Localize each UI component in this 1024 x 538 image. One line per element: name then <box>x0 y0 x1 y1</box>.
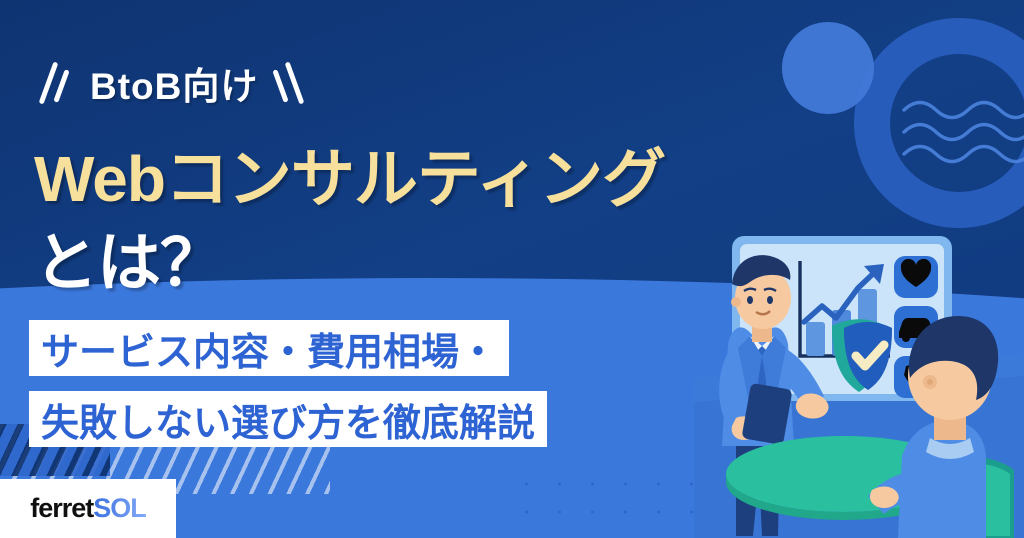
dot-grid-decoration <box>510 470 700 538</box>
page-title-line2: とは？ <box>34 212 223 304</box>
eyebrow-label: BtoB向け <box>42 56 306 110</box>
slash-right-icon <box>272 59 306 107</box>
slash-left-icon <box>42 59 76 107</box>
wave-lines-icon <box>902 92 1024 172</box>
circle-decoration <box>782 22 874 114</box>
eyebrow-text: BtoB向け <box>90 56 258 110</box>
logo-ferret-text: ferret <box>30 493 93 523</box>
banner-root: BtoB向け Webコンサルティング とは？ サービス内容・費用相場・ 失敗しな… <box>0 0 1024 538</box>
page-title-line1: Webコンサルティング <box>34 128 665 220</box>
client-hand <box>870 487 899 508</box>
logo-panel[interactable]: ferretSOL <box>0 479 176 538</box>
logo-sol-text: SOL <box>93 493 146 523</box>
logo-wordmark: ferretSOL <box>30 493 146 524</box>
subtitle-box-1: サービス内容・費用相場・ <box>29 320 509 376</box>
consulting-illustration <box>694 226 1024 538</box>
subtitle-box-2: 失敗しない選び方を徹底解説 <box>29 391 547 447</box>
